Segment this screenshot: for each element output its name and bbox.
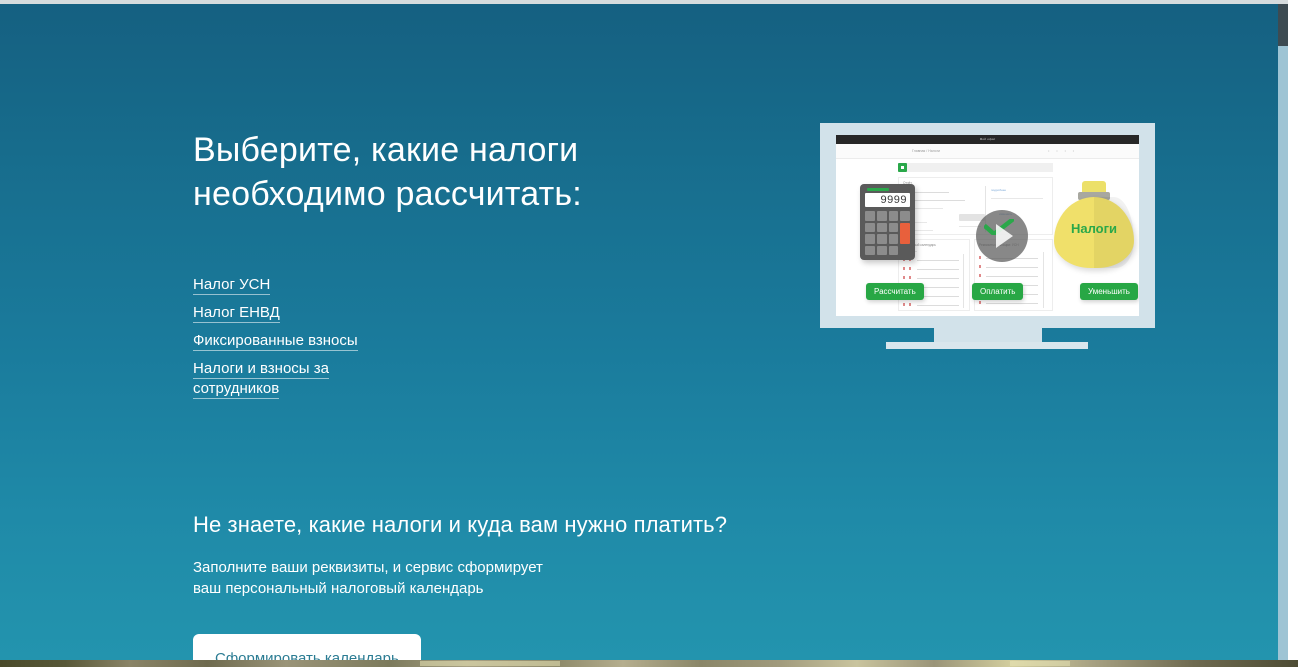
play-triangle-icon xyxy=(996,224,1013,248)
toolbar-icons: • • • • xyxy=(1048,149,1077,153)
tax-link-employee-taxes[interactable]: Налоги и взносы за сотрудников xyxy=(193,360,329,399)
promo-description: Заполните ваши реквизиты, и сервис сформ… xyxy=(193,557,793,599)
row-line xyxy=(917,305,959,306)
monitor-screen: Мой офис Главная / Налоги • • • • Отчёт … xyxy=(836,135,1139,316)
money-bag-label: Налоги xyxy=(1054,221,1134,236)
calculator-key xyxy=(865,234,875,244)
row-line xyxy=(917,260,959,261)
calculator-display: 9999 xyxy=(865,193,910,207)
calculator-keypad xyxy=(865,211,910,255)
list-item: Налог ЕНВД xyxy=(193,303,613,323)
date-marker xyxy=(903,276,905,279)
desktop-taskbar-sliver xyxy=(0,660,1298,667)
pay-button: Оплатить xyxy=(972,283,1023,300)
tax-link-usn[interactable]: Налог УСН xyxy=(193,276,270,295)
tax-link-envd[interactable]: Налог ЕНВД xyxy=(193,304,280,323)
panel-divider xyxy=(963,254,964,308)
calculator-key xyxy=(865,246,875,256)
hero-illustration: Мой офис Главная / Налоги • • • • Отчёт … xyxy=(820,123,1155,328)
panel-divider xyxy=(1043,252,1044,308)
page-viewport: Выберите, какие налоги необходимо рассчи… xyxy=(0,4,1288,660)
calculator-key xyxy=(877,223,887,233)
monitor-stand-base xyxy=(886,342,1088,349)
app-subbar xyxy=(836,144,1139,159)
panel-link: подробнее xyxy=(991,188,1006,192)
promo-line-1: Заполните ваши реквизиты, и сервис сформ… xyxy=(193,559,543,576)
calculator-key xyxy=(865,223,875,233)
row-line xyxy=(917,278,959,279)
promo-heading: Не знаете, какие налоги и куда вам нужно… xyxy=(193,512,893,538)
calculator-key xyxy=(877,234,887,244)
row-line xyxy=(986,276,1038,277)
calculator-key-accent xyxy=(900,223,910,244)
row-line xyxy=(991,198,1043,199)
scrollbar-track[interactable] xyxy=(1278,46,1288,660)
row-line xyxy=(917,269,959,270)
monitor-stand-neck xyxy=(934,328,1042,342)
page-scrollbar[interactable] xyxy=(1278,4,1288,660)
calculate-button: Рассчитать xyxy=(866,283,924,300)
date-marker xyxy=(909,276,911,279)
app-window-titlebar: Мой офис xyxy=(836,135,1139,144)
calculator-key xyxy=(877,246,887,256)
app-window-title: Мой офис xyxy=(980,137,996,141)
calculator-topbar xyxy=(867,188,889,191)
calculator-key xyxy=(865,211,875,221)
row-line xyxy=(986,267,1038,268)
date-marker xyxy=(903,267,905,270)
date-marker xyxy=(979,301,981,304)
browser-page: Выберите, какие налоги необходимо рассчи… xyxy=(0,0,1298,667)
breadcrumb: Главная / Налоги xyxy=(912,149,940,153)
taskbar-item xyxy=(1010,661,1070,666)
date-marker xyxy=(909,267,911,270)
taskbar-item xyxy=(420,661,560,666)
scrollbar-thumb[interactable] xyxy=(1278,4,1288,46)
calculator-key xyxy=(889,211,899,221)
toolbar-strip xyxy=(898,163,1053,172)
generate-calendar-button[interactable]: Сформировать календарь xyxy=(193,634,421,660)
date-marker xyxy=(979,274,981,277)
report-panel: Отчёт подробнее изменить xyxy=(898,177,1053,235)
calculator-key xyxy=(900,211,910,221)
calculator-key xyxy=(889,223,899,233)
promo-line-2: ваш персональный налоговый календарь xyxy=(193,580,484,597)
date-marker xyxy=(903,303,905,306)
date-marker xyxy=(909,303,911,306)
window-top-edge xyxy=(0,0,1288,4)
play-button-overlay xyxy=(976,210,1028,262)
calculator-key xyxy=(877,211,887,221)
calculator-key xyxy=(889,234,899,244)
calculator-key xyxy=(889,246,899,256)
money-bag-icon: Налоги xyxy=(1054,175,1134,268)
tax-link-fixed-contributions[interactable]: Фиксированные взносы xyxy=(193,332,358,351)
date-marker xyxy=(979,256,981,259)
add-icon xyxy=(898,163,907,172)
row-line xyxy=(986,303,1038,304)
tax-links-list: Налог УСН Налог ЕНВД Фиксированные взнос… xyxy=(193,275,613,407)
page-title: Выберите, какие налоги необходимо рассчи… xyxy=(193,128,713,216)
calculator-icon: 9999 xyxy=(860,184,915,260)
reduce-button: Уменьшить xyxy=(1080,283,1138,300)
list-item: Налоги и взносы за сотрудников xyxy=(193,359,358,399)
list-item: Фиксированные взносы xyxy=(193,331,613,351)
date-marker xyxy=(979,265,981,268)
list-item: Налог УСН xyxy=(193,275,613,295)
